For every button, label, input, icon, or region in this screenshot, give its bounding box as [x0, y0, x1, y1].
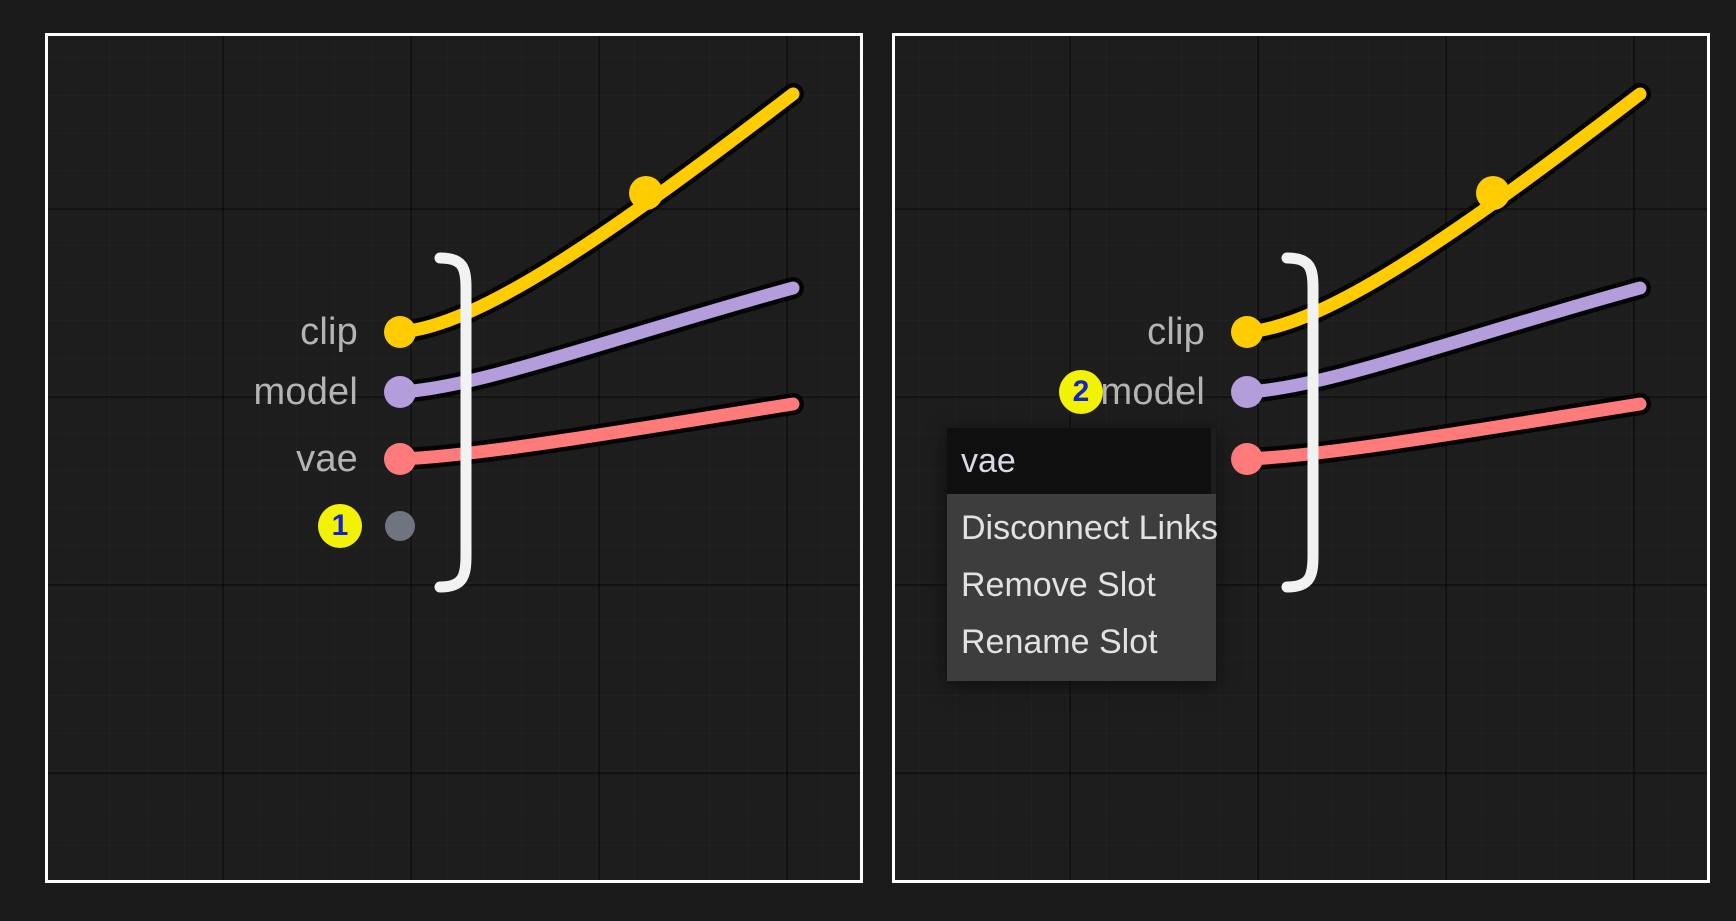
screenshot-stage: clip model vae 1 clip model 2: [0, 0, 1736, 921]
slot-dot-empty[interactable]: [385, 511, 415, 541]
link-midpoint-dot-clip[interactable]: [1476, 176, 1510, 210]
context-menu-items: Disconnect Links Remove Slot Rename Slot: [947, 494, 1216, 681]
slot-dot-model[interactable]: [384, 376, 416, 408]
context-menu-title: vae: [947, 428, 1211, 494]
link-midpoint-dot-clip[interactable]: [629, 176, 663, 210]
slot-dot-model[interactable]: [1231, 376, 1263, 408]
menu-item-rename-slot[interactable]: Rename Slot: [947, 614, 1216, 671]
slot-context-menu: vae Disconnect Links Remove Slot Rename …: [947, 428, 1216, 681]
slot-dot-vae[interactable]: [384, 443, 416, 475]
step-badge-2: 2: [1059, 370, 1103, 414]
menu-item-disconnect-links[interactable]: Disconnect Links: [947, 500, 1216, 557]
slot-label-model: model: [895, 373, 1205, 411]
slot-label-model: model: [48, 373, 358, 411]
menu-item-remove-slot[interactable]: Remove Slot: [947, 557, 1216, 614]
slot-label-clip: clip: [895, 313, 1205, 351]
panel-after-state: clip model 2 vae Disconnect Links Remove…: [892, 33, 1710, 883]
slot-dot-clip[interactable]: [1231, 316, 1263, 348]
panel-before-state: clip model vae 1: [45, 33, 863, 883]
link-vae: [1247, 404, 1640, 459]
slot-label-clip: clip: [48, 313, 358, 351]
slot-label-vae: vae: [48, 440, 358, 478]
link-vae: [400, 404, 793, 459]
slot-dot-vae[interactable]: [1231, 443, 1263, 475]
step-badge-1: 1: [318, 504, 362, 548]
slot-dot-clip[interactable]: [384, 316, 416, 348]
